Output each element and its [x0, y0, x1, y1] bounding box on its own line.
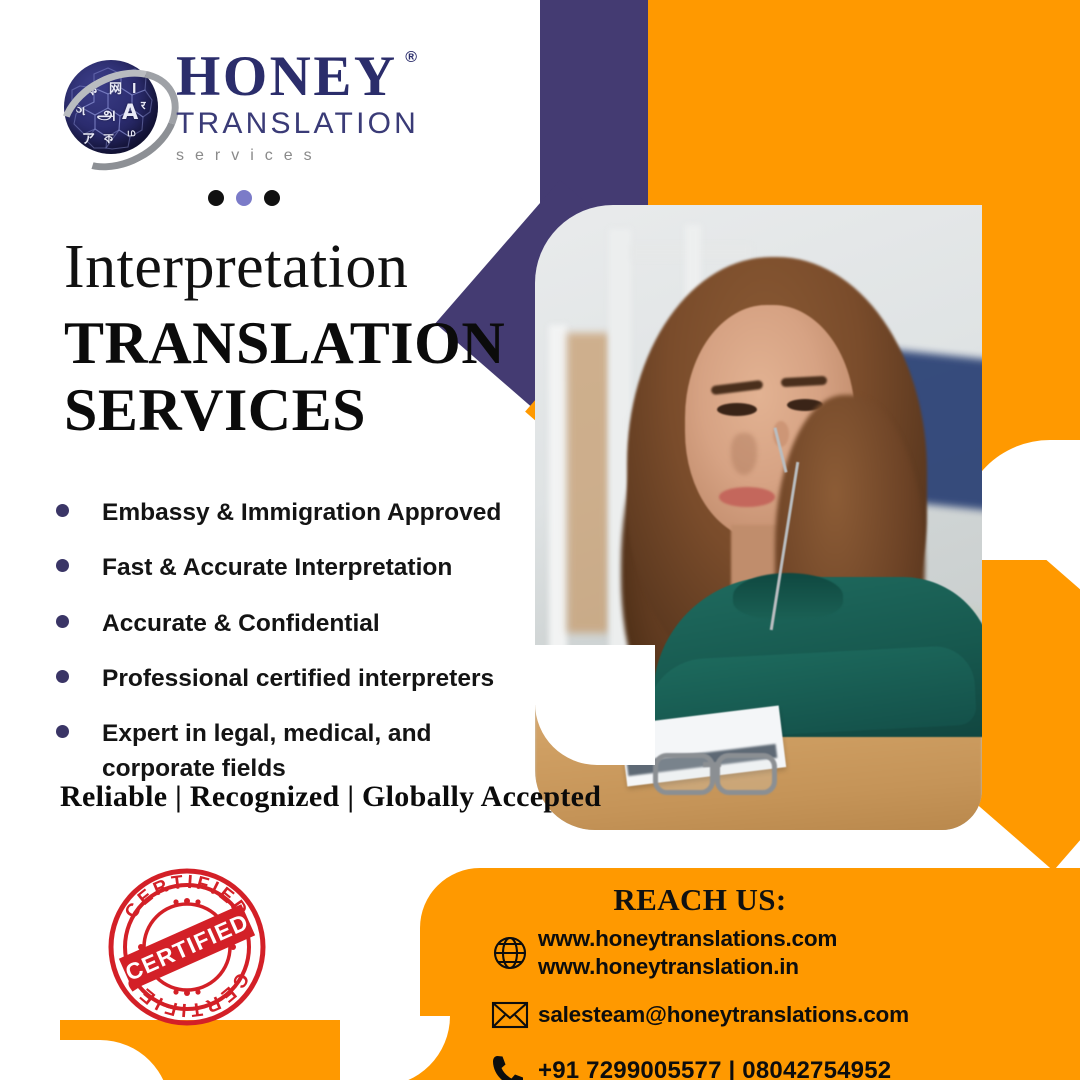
globe-logo-icon: ক 网 ا ગ அ A र ア ক ம: [56, 54, 168, 164]
registered-mark-icon: ®: [405, 50, 419, 66]
contact-row-phone[interactable]: +91 7299005577 | 08042754952: [490, 1049, 1050, 1080]
photo-lips: [719, 487, 775, 507]
photo-eye: [717, 403, 757, 416]
tagline: Reliable | Recognized | Globally Accepte…: [60, 780, 601, 814]
envelope-icon: [490, 993, 538, 1037]
logo-dot-1: [208, 190, 224, 206]
bullet-icon: [56, 559, 69, 572]
contact-phone-value[interactable]: +91 7299005577 | 08042754952: [538, 1056, 891, 1080]
bullet-icon: [56, 725, 69, 738]
headline-block: Interpretation TRANSLATION SERVICES: [64, 236, 524, 444]
photo-notch: [535, 645, 653, 705]
list-item: Expert in legal, medical, and corporate …: [56, 716, 526, 787]
contact-website-values: www.honeytranslations.com www.honeytrans…: [538, 925, 837, 981]
bullet-icon: [56, 504, 69, 517]
brand-name-primary: HONEY ®: [176, 48, 398, 105]
list-item-label: Expert in legal, medical, and corporate …: [102, 716, 452, 787]
headline-script: Interpretation: [64, 236, 524, 298]
contact-heading: REACH US:: [420, 882, 980, 918]
brand-wordmark: HONEY ® TRANSLATION services: [176, 48, 456, 164]
website-1[interactable]: www.honeytranslations.com: [538, 925, 837, 953]
photo-shelf: [549, 325, 567, 655]
brand-name-tertiary: services: [176, 148, 456, 164]
logo-dots: [208, 190, 280, 206]
contact-row-website[interactable]: www.honeytranslations.com www.honeytrans…: [490, 925, 1050, 981]
list-item: Fast & Accurate Interpretation: [56, 550, 526, 585]
contact-list: www.honeytranslations.com www.honeytrans…: [490, 925, 1050, 1080]
contact-email-value[interactable]: salesteam@honeytranslations.com: [538, 1001, 909, 1029]
bullet-icon: [56, 615, 69, 628]
feature-list: Embassy & Immigration Approved Fast & Ac…: [56, 495, 526, 807]
logo-dot-2: [236, 190, 252, 206]
list-item-label: Fast & Accurate Interpretation: [102, 550, 452, 585]
list-item-label: Professional certified interpreters: [102, 661, 494, 696]
globe-icon: [490, 931, 538, 975]
poster-canvas: ক 网 ا ગ அ A र ア ক ம HONEY ® TRANSLATION …: [0, 0, 1080, 1080]
logo-dot-3: [264, 190, 280, 206]
photo-collar: [733, 573, 843, 619]
photo-nose: [731, 433, 757, 475]
photo-books: [567, 333, 609, 633]
phone-icon: [490, 1049, 538, 1080]
headline-bold-line-1: TRANSLATION: [64, 310, 524, 377]
list-item-label: Embassy & Immigration Approved: [102, 495, 501, 530]
contact-row-email[interactable]: salesteam@honeytranslations.com: [490, 993, 1050, 1037]
list-item: Embassy & Immigration Approved: [56, 495, 526, 530]
brand-name-primary-text: HONEY: [176, 45, 398, 108]
brand-logo[interactable]: ক 网 ا ગ அ A र ア ক ம HONEY ® TRANSLATION …: [56, 48, 456, 173]
certified-stamp-icon: CERTIFIED CERTIFIED CERTIFIED: [106, 866, 268, 1028]
photo-glasses: [653, 753, 785, 787]
list-item: Professional certified interpreters: [56, 661, 526, 696]
headline-bold-line-2: SERVICES: [64, 377, 524, 444]
bullet-icon: [56, 670, 69, 683]
brand-name-secondary: TRANSLATION: [176, 109, 456, 139]
list-item-label: Accurate & Confidential: [102, 606, 380, 641]
website-2[interactable]: www.honeytranslation.in: [538, 953, 837, 981]
list-item: Accurate & Confidential: [56, 606, 526, 641]
certified-stamp: CERTIFIED CERTIFIED CERTIFIED: [106, 866, 268, 1028]
headline-bold: TRANSLATION SERVICES: [64, 310, 524, 444]
